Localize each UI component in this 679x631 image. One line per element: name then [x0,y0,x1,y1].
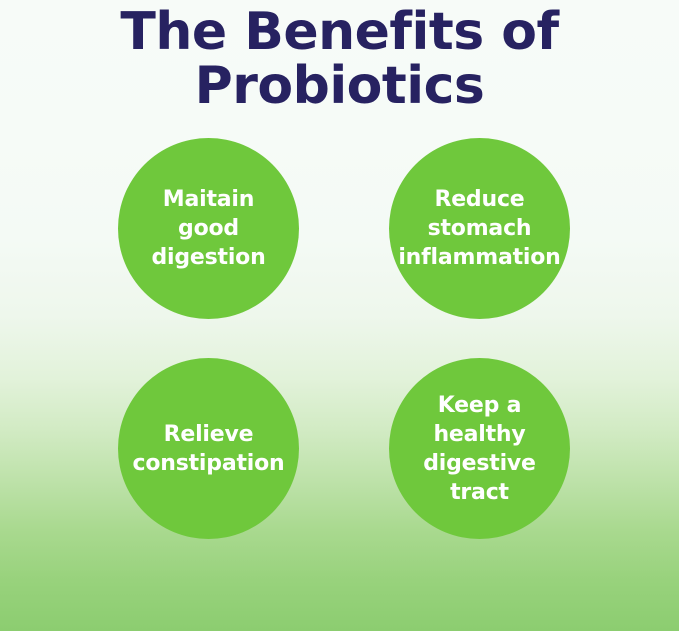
benefit-label: Maitain good digestion [147,185,269,272]
page-title: The Benefits of Probiotics [0,6,679,112]
benefit-circle-maintain-good-digestion: Maitain good digestion [118,138,299,319]
page-title-line-2: Probiotics [0,60,679,112]
benefit-circle-reduce-stomach-inflammation: Reduce stomach inflammation [389,138,570,319]
benefit-label: Keep a healthy digestive tract [417,391,542,507]
page-title-line-1: The Benefits of [0,6,679,58]
probiotics-benefits-infographic: The Benefits of Probiotics Maitain good … [0,0,679,631]
benefit-label: Reduce stomach inflammation [397,185,561,272]
benefit-label: Relieve constipation [129,420,289,478]
benefit-circle-relieve-constipation: Relieve constipation [118,358,299,539]
benefit-circle-keep-a-healthy-digestive-tract: Keep a healthy digestive tract [389,358,570,539]
